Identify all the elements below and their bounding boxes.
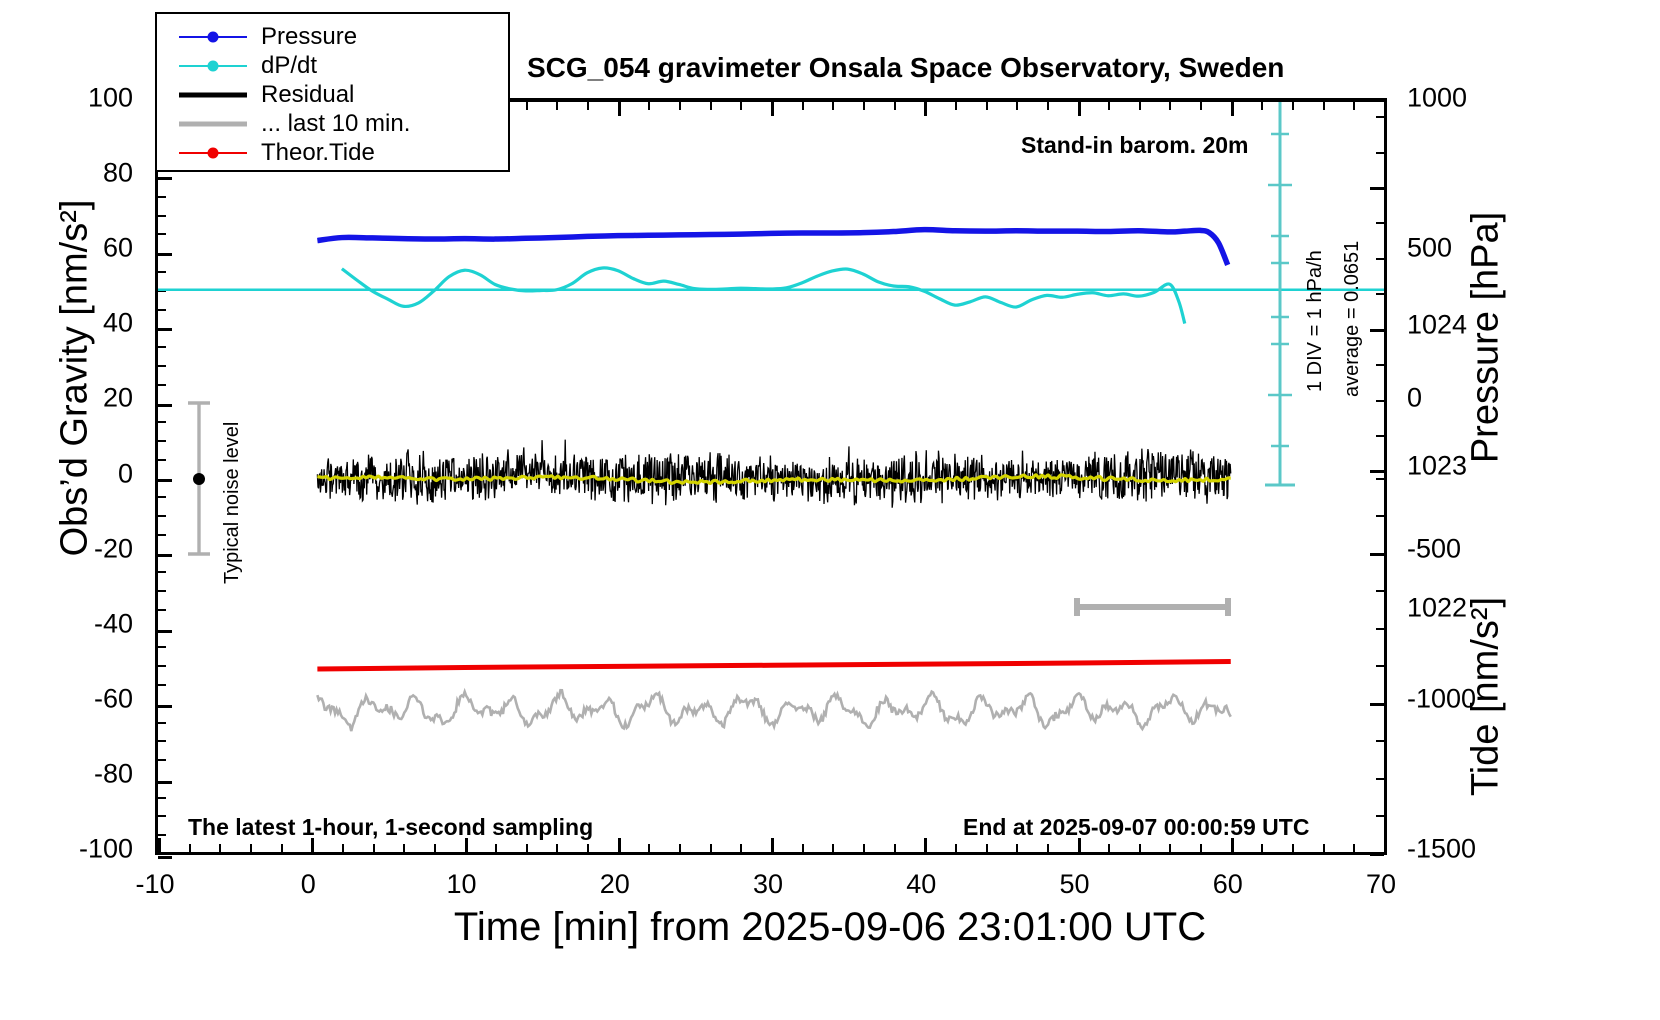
legend-swatch-theor-tide	[179, 144, 247, 162]
xtick-minor	[832, 844, 834, 852]
series-last-10-min	[317, 690, 1230, 731]
ytick-minor	[158, 421, 166, 423]
ytick-minor	[158, 646, 166, 648]
xtick-minor	[894, 844, 896, 852]
legend-swatch-dpdt	[179, 57, 247, 75]
ytick-major	[158, 630, 172, 633]
tide-tick-minor	[1376, 515, 1384, 517]
xtick-top-major	[771, 102, 774, 116]
tide-tick-minor	[1376, 478, 1384, 480]
y-axis-tick-label: 100	[0, 83, 133, 114]
ytick-minor	[158, 440, 166, 442]
xtick-minor	[403, 844, 405, 852]
xtick-top-minor	[1016, 102, 1018, 110]
ytick-minor	[158, 309, 166, 311]
legend-label-residual: Residual	[261, 81, 354, 109]
pressure-tick-label: 1024	[1407, 309, 1467, 340]
y-axis-tick-label: 0	[0, 458, 133, 489]
xtick-top-minor	[986, 102, 988, 110]
tide-tick-label: -1000	[1407, 683, 1476, 714]
annotation-sampling-note: The latest 1-hour, 1-second sampling	[188, 814, 593, 841]
xtick-top-major	[618, 102, 621, 116]
ytick-major	[158, 253, 172, 256]
ytick-minor	[158, 722, 166, 724]
ytick-minor	[158, 496, 166, 498]
xtick-top-major	[1231, 102, 1234, 116]
xtick-top-minor	[1292, 102, 1294, 110]
x-axis-tick-label: 50	[1059, 869, 1089, 900]
xtick-minor	[955, 844, 957, 852]
xtick-top-minor	[679, 102, 681, 110]
annotation-stand-in-barom: Stand-in barom. 20m	[1021, 132, 1248, 159]
pressure-tick-minor	[1376, 152, 1384, 154]
xtick-minor	[1353, 844, 1355, 852]
xtick-minor	[1016, 844, 1018, 852]
xtick-minor	[1261, 844, 1263, 852]
xtick-minor	[1323, 844, 1325, 852]
ytick-minor	[158, 759, 166, 761]
ytick-minor	[158, 459, 166, 461]
legend-item-pressure[interactable]: Pressure	[179, 22, 508, 51]
xtick-minor	[189, 844, 191, 852]
ytick-minor	[158, 346, 166, 348]
x-axis-tick-label: 30	[753, 869, 783, 900]
x-axis-tick-label: 60	[1213, 869, 1243, 900]
ytick-major	[158, 328, 172, 331]
xtick-top-minor	[1169, 102, 1171, 110]
series-residual-smoothed	[317, 475, 1230, 484]
legend-item-last-10-min[interactable]: ... last 10 min.	[179, 109, 508, 138]
y-axis-title-pressure: Pressure [hPa]	[1465, 188, 1508, 488]
annotation-dpdt-average: average = 0.0651	[1341, 241, 1364, 397]
ytick-major	[158, 177, 172, 180]
y-axis-tick-label: 20	[0, 383, 133, 414]
tide-tick-major	[1370, 553, 1384, 556]
xtick-top-minor	[1108, 102, 1110, 110]
ytick-minor	[158, 571, 166, 573]
y-axis-tick-label: -20	[0, 533, 133, 564]
xtick-top-minor	[832, 102, 834, 110]
tide-tick-label: -500	[1407, 533, 1461, 564]
ytick-minor	[158, 815, 166, 817]
xtick-minor	[802, 844, 804, 852]
ytick-minor	[158, 196, 166, 198]
ytick-minor	[158, 215, 166, 217]
xtick-major	[618, 838, 621, 852]
legend-item-residual[interactable]: Residual	[179, 80, 508, 109]
pressure-tick-major	[1370, 329, 1384, 332]
ytick-major	[158, 554, 172, 557]
y-axis-tick-label: 60	[0, 233, 133, 264]
x-axis-tick-label: 70	[1366, 869, 1396, 900]
xtick-top-minor	[648, 102, 650, 110]
annotation-typical-noise-level: Typical noise level	[221, 422, 244, 584]
xtick-top-minor	[556, 102, 558, 110]
tide-tick-major	[1370, 703, 1384, 706]
xtick-top-minor	[1261, 102, 1263, 110]
series-pressure	[317, 230, 1227, 265]
xtick-major	[924, 838, 927, 852]
pressure-tick-major	[1370, 470, 1384, 473]
xtick-minor	[986, 844, 988, 852]
tide-tick-minor	[1376, 590, 1384, 592]
tide-tick-minor	[1376, 665, 1384, 667]
series-dpdt	[342, 268, 1185, 324]
xtick-minor	[342, 844, 344, 852]
ytick-minor	[158, 534, 166, 536]
xtick-minor	[495, 844, 497, 852]
legend-label-pressure: Pressure	[261, 23, 357, 51]
xtick-top-major	[1078, 102, 1081, 116]
legend-item-theor-tide[interactable]: Theor.Tide	[179, 138, 508, 167]
xtick-minor	[1200, 844, 1202, 852]
ytick-major	[158, 404, 172, 407]
xtick-top-minor	[1047, 102, 1049, 110]
ytick-major	[158, 479, 172, 482]
xtick-top-minor	[1139, 102, 1141, 110]
x-axis-tick-label: 0	[301, 869, 316, 900]
tide-tick-label: 0	[1407, 383, 1422, 414]
xtick-minor	[556, 844, 558, 852]
xtick-top-minor	[1200, 102, 1202, 110]
ytick-minor	[158, 740, 166, 742]
ytick-minor	[158, 365, 166, 367]
annotation-end-time: End at 2025-09-07 00:00:59 UTC	[963, 814, 1309, 841]
xtick-minor	[710, 844, 712, 852]
ytick-minor	[158, 834, 166, 836]
xtick-minor	[1292, 844, 1294, 852]
tide-tick-minor	[1376, 815, 1384, 817]
xtick-top-minor	[894, 102, 896, 110]
ytick-major	[158, 705, 172, 708]
xtick-top-minor	[802, 102, 804, 110]
xtick-minor	[587, 844, 589, 852]
xtick-major	[158, 838, 161, 852]
pressure-tick-label: 1023	[1407, 451, 1467, 482]
ytick-minor	[158, 233, 166, 235]
ytick-minor	[158, 609, 166, 611]
pressure-tick-minor	[1376, 222, 1384, 224]
xtick-minor	[373, 844, 375, 852]
xtick-top-major	[1384, 102, 1387, 116]
xtick-minor	[863, 844, 865, 852]
ytick-minor	[158, 290, 166, 292]
legend: Pressure dP/dt Residual ... last 10 min.…	[155, 12, 510, 172]
tide-tick-label: -1500	[1407, 834, 1476, 865]
series-theor-tide	[317, 662, 1230, 670]
ytick-minor	[158, 797, 166, 799]
pressure-tick-major	[1370, 187, 1384, 190]
xtick-minor	[1169, 844, 1171, 852]
ytick-major	[158, 856, 172, 859]
annotation-div-scale: 1 DIV = 1 hPa/h	[1304, 250, 1327, 392]
x-axis-tick-label: 20	[600, 869, 630, 900]
ytick-minor	[158, 590, 166, 592]
xtick-top-minor	[526, 102, 528, 110]
xtick-minor	[219, 844, 221, 852]
pressure-tick-minor	[1376, 364, 1384, 366]
xtick-major	[771, 838, 774, 852]
pressure-tick-minor	[1376, 258, 1384, 260]
xtick-top-minor	[1323, 102, 1325, 110]
ytick-minor	[158, 271, 166, 273]
chart-title: SCG_054 gravimeter Onsala Space Observat…	[527, 52, 1284, 84]
typical-noise-level-bar	[188, 403, 210, 554]
pressure-tick-minor	[1376, 400, 1384, 402]
legend-swatch-pressure	[179, 28, 247, 46]
series-residual	[317, 440, 1230, 508]
legend-label-last-10-min: ... last 10 min.	[261, 110, 410, 138]
legend-label-theor-tide: Theor.Tide	[261, 139, 375, 167]
xtick-minor	[679, 844, 681, 852]
tide-tick-major	[1370, 853, 1384, 856]
y-axis-tick-label: -60	[0, 683, 133, 714]
last-10-min-span-marker	[1077, 598, 1228, 616]
data-curves	[158, 102, 1384, 853]
y-axis-tick-label: -40	[0, 608, 133, 639]
dpdt-scale-bar	[1265, 102, 1295, 486]
xtick-minor	[740, 844, 742, 852]
y-axis-tick-label: 40	[0, 308, 133, 339]
xtick-top-minor	[955, 102, 957, 110]
legend-swatch-residual	[179, 86, 247, 104]
xtick-minor	[250, 844, 252, 852]
pressure-tick-label: 1022	[1407, 593, 1467, 624]
ytick-minor	[158, 684, 166, 686]
pressure-tick-minor	[1376, 435, 1384, 437]
y-axis-tick-label: -100	[0, 834, 133, 865]
tide-tick-label: 500	[1407, 233, 1452, 264]
legend-label-dpdt: dP/dt	[261, 52, 317, 80]
x-axis-tick-label: 10	[446, 869, 476, 900]
tide-tick-label: 1000	[1407, 83, 1467, 114]
tide-tick-minor	[1376, 628, 1384, 630]
x-axis-tick-label: -10	[135, 869, 174, 900]
legend-item-dpdt[interactable]: dP/dt	[179, 51, 508, 80]
xtick-top-minor	[863, 102, 865, 110]
xtick-top-minor	[740, 102, 742, 110]
xtick-major	[1384, 838, 1387, 852]
x-axis-tick-label: 40	[906, 869, 936, 900]
xtick-minor	[1108, 844, 1110, 852]
ytick-minor	[158, 515, 166, 517]
ytick-minor	[158, 384, 166, 386]
y-axis-tick-label: 80	[0, 158, 133, 189]
xtick-top-major	[924, 102, 927, 116]
tide-tick-minor	[1376, 740, 1384, 742]
tide-tick-minor	[1376, 778, 1384, 780]
xtick-top-minor	[710, 102, 712, 110]
y-axis-title-gravity: Obs’d Gravity [nm/s²]	[54, 158, 97, 598]
xtick-minor	[1047, 844, 1049, 852]
pressure-tick-minor	[1376, 116, 1384, 118]
plot-area: Stand-in barom. 20m 1 DIV = 1 hPa/h aver…	[155, 98, 1387, 855]
xtick-top-minor	[1353, 102, 1355, 110]
x-axis-title: Time [min] from 2025-09-06 23:01:00 UTC	[454, 905, 1206, 950]
ytick-minor	[158, 665, 166, 667]
xtick-minor	[1139, 844, 1141, 852]
legend-swatch-last-10-min	[179, 115, 247, 133]
xtick-minor	[648, 844, 650, 852]
ytick-major	[158, 781, 172, 784]
xtick-minor	[526, 844, 528, 852]
xtick-top-minor	[587, 102, 589, 110]
pressure-tick-minor	[1376, 293, 1384, 295]
y-axis-tick-label: -80	[0, 758, 133, 789]
xtick-minor	[434, 844, 436, 852]
xtick-minor	[281, 844, 283, 852]
